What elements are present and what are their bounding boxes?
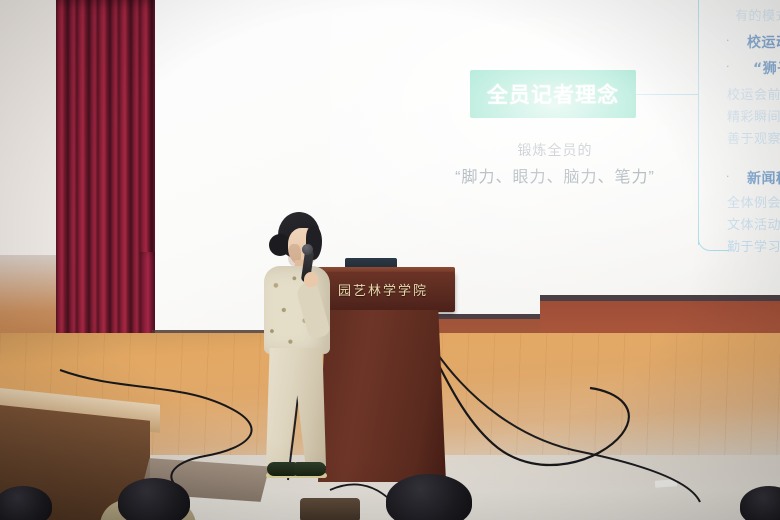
screenshot-root: 全员记者理念 锻炼全员的 “脚力、眼力、脑力、笔力” 有的模式，推陈出新 · 校… [0,0,780,520]
foreground-chair [300,498,360,520]
slide-bullet-marker-1: · [726,34,730,47]
slide-bullet-marker-2: · [726,60,730,73]
slide-concept-subtext: 锻炼全员的 “脚力、眼力、脑力、笔力” [405,140,705,190]
mindmap-connector-horizontal [636,94,698,95]
slide-text-ghost-4: 全体例会 [727,192,780,211]
slide-text-ghost-3: 善于观察、善于辨别、做到 [727,128,780,147]
slide-text-bullet-3: 新闻稿的撰写 可以轮 [747,168,780,188]
slide-concept-box-label: 全员记者理念 [487,79,619,109]
slide-subtext-line-2: “脚力、眼力、脑力、笔力” [405,166,705,191]
presenter-trousers [266,348,326,466]
slide-subtext-line-1: 锻炼全员的 [405,140,705,162]
slide-text-ghost-1: 校运会前线摄影记者 [727,84,780,103]
slide-concept-box: 全员记者理念 [470,70,636,118]
slide-text-ghost-2: 精彩瞬间抓拍者 [727,106,780,125]
audience-head-center [386,474,472,520]
slide-text-ghost-5: 文体活动以及学术活动 [727,214,780,233]
slide-text-bullet-2: “狮子山杯”篮球赛、足 [753,58,780,78]
slide-bullet-marker-3: · [726,170,730,183]
presenter-shoe-right [294,462,326,476]
presenter-hand [304,272,318,287]
presenter [248,212,348,492]
mindmap-connector-vertical [698,0,699,245]
audience-head-left [118,478,190,520]
slide-text-ghost-6: 勤于学习、善于思考、勇于 [727,236,780,255]
slide-right-column: 有的模式，推陈出新 · 校运动会 · “狮子山杯”篮球赛、足 校运会前线摄影记者… [715,0,780,250]
slide-text-ghost-top: 有的模式，推陈出新 [735,5,780,24]
presenter-shoe-left [267,462,297,476]
slide-text-bullet-1: 校运动会 [747,32,780,52]
